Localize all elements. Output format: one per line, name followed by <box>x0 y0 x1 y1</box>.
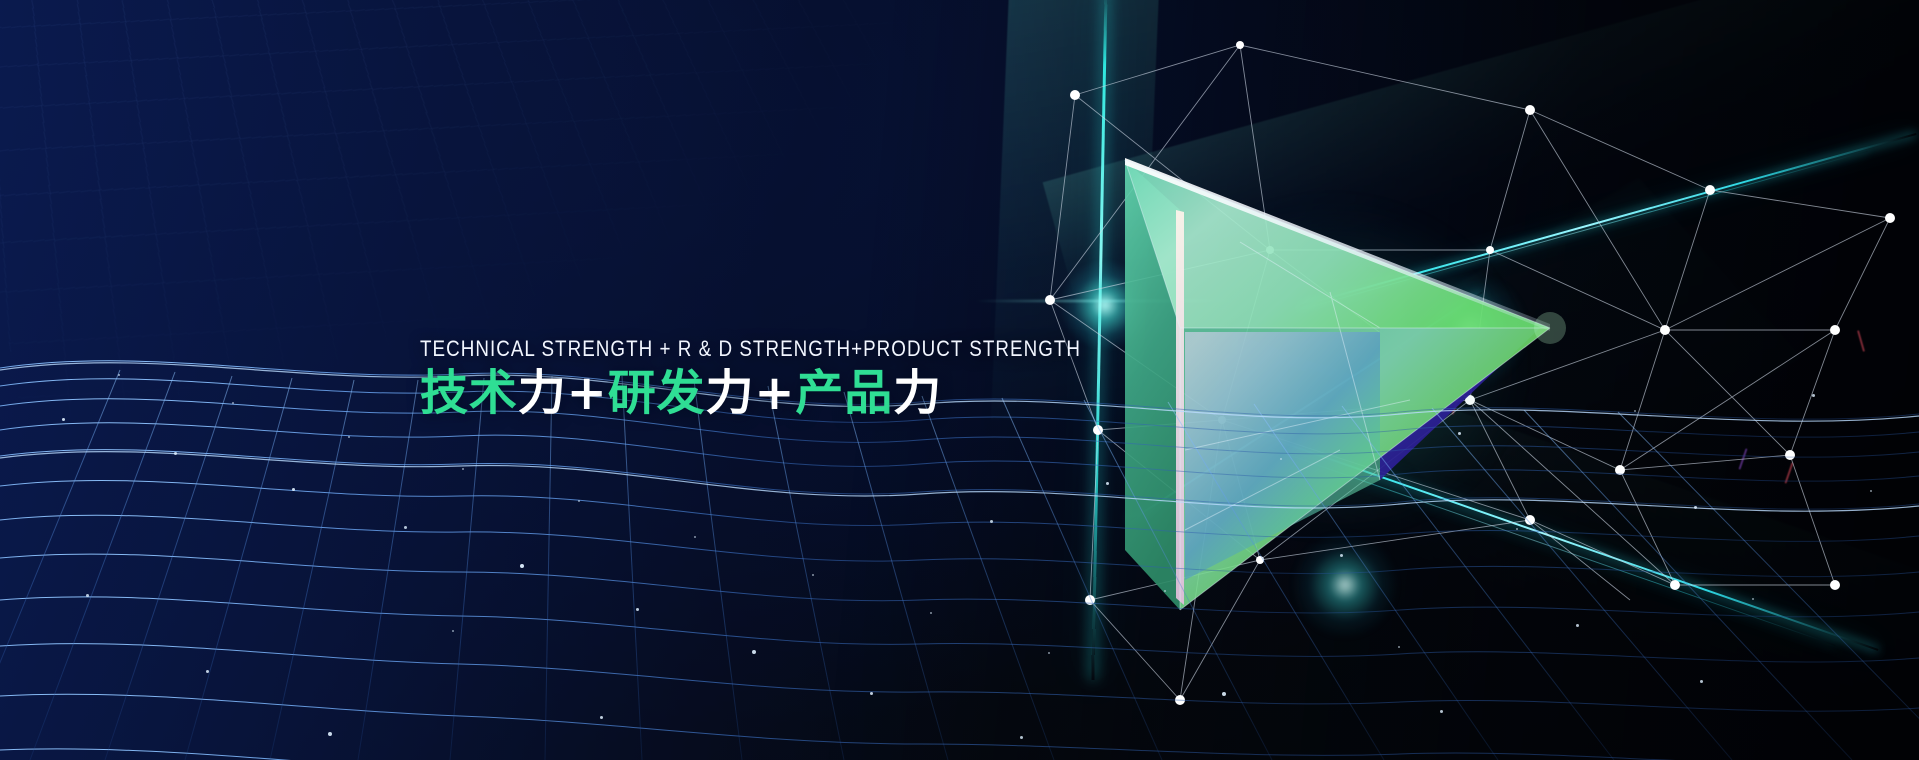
hero-banner: TECHNICAL STRENGTH + R & D STRENGTH+PROD… <box>0 0 1919 760</box>
headline-seg-3: 研发 <box>608 365 706 421</box>
headline-seg-4: 力 <box>705 365 754 421</box>
headline-seg-0: 技术 <box>420 365 518 421</box>
hero-copy: TECHNICAL STRENGTH + R & D STRENGTH+PROD… <box>420 336 1193 420</box>
headline-seg-2: + <box>567 365 608 421</box>
headline-seg-7: 力 <box>893 365 942 421</box>
headline-seg-1: 力 <box>518 365 567 421</box>
hero-headline: 技术力+研发力+产品力 <box>420 368 1193 420</box>
headline-seg-6: 产品 <box>795 365 893 421</box>
hero-eyebrow: TECHNICAL STRENGTH + R & D STRENGTH+PROD… <box>420 336 1081 361</box>
headline-seg-5: + <box>754 365 795 421</box>
